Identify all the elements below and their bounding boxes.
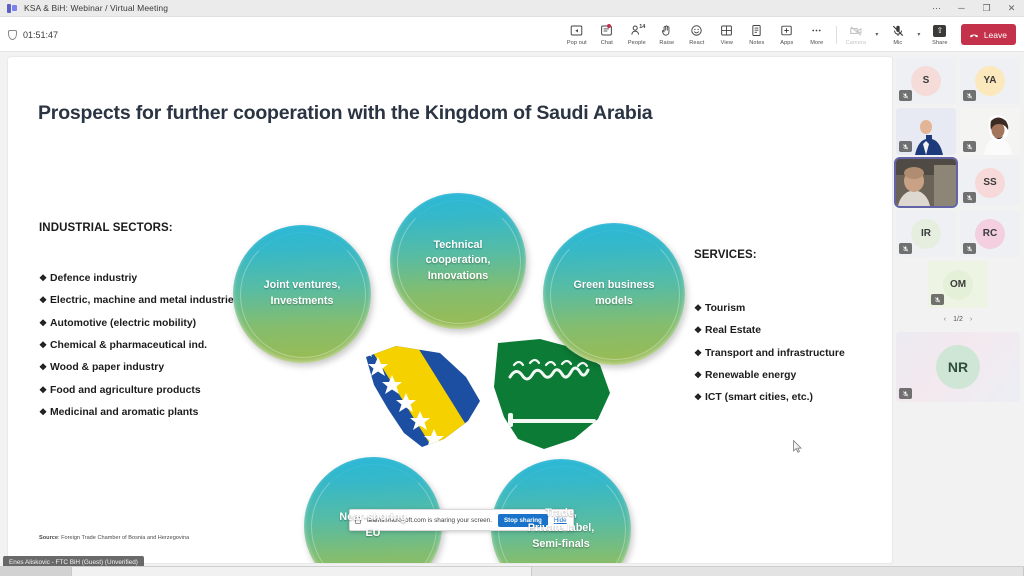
pop-out-icon: [569, 23, 584, 38]
source-label: Source: [39, 535, 58, 541]
mic-toggle-button[interactable]: Mic: [883, 18, 913, 51]
bullet-marker-icon: ❖: [694, 391, 705, 403]
mic-muted-icon: [890, 23, 905, 38]
mic-muted-icon: [963, 243, 976, 254]
mic-muted-icon: [899, 141, 912, 152]
participant-tile-s[interactable]: S: [896, 57, 956, 104]
bullet-marker-icon: ❖: [39, 361, 50, 373]
apps-plus-icon: [779, 23, 794, 38]
people-icon: 14: [629, 23, 644, 38]
bullet-marker-icon: ❖: [39, 272, 50, 284]
teams-icon: [7, 4, 17, 13]
meeting-toolbar: 01:51:47 Pop out Chat 14: [0, 17, 1024, 52]
mic-muted-icon: [931, 294, 944, 305]
avatar: YA: [975, 66, 1005, 96]
bullet-marker-icon: ❖: [694, 302, 705, 314]
apps-button[interactable]: Apps: [772, 18, 802, 51]
window-title-bar: KSA & BiH: Webinar / Virtual Meeting ⋯ ─…: [0, 0, 1024, 17]
bullet-marker-icon: ❖: [694, 369, 705, 381]
list-item-label: ICT (smart cities, etc.): [705, 391, 892, 404]
avatar: RC: [975, 219, 1005, 249]
next-page-icon[interactable]: ›: [970, 316, 972, 323]
bubble-green-business: Green business models: [543, 223, 685, 365]
view-button[interactable]: View: [712, 18, 742, 51]
bullet-marker-icon: ❖: [39, 384, 50, 396]
more-label: More: [810, 40, 823, 46]
list-item-label: Medicinal and aromatic plants: [50, 406, 289, 419]
bubble-label: Trade, Private label, Semi-finals: [520, 506, 603, 553]
mic-muted-icon: [899, 243, 912, 254]
camera-toggle-button[interactable]: Camera: [841, 18, 871, 51]
bubble-joint-ventures: Joint ventures, Investments: [233, 225, 371, 363]
notes-button[interactable]: Notes: [742, 18, 772, 51]
shield-icon: [8, 30, 17, 40]
list-item-label: Tourism: [705, 302, 892, 315]
list-item: ❖Food and agriculture products: [39, 384, 289, 397]
chat-label: Chat: [601, 40, 613, 46]
share-screen-icon: ⇧: [932, 23, 947, 38]
meeting-timer: 01:51:47: [8, 17, 58, 52]
page-indicator: 1/2: [953, 316, 963, 323]
toolbar-actions: Pop out Chat 14 People: [562, 17, 1016, 52]
list-item: ❖Renewable energy: [694, 369, 892, 382]
participant-tile-om[interactable]: OM: [928, 261, 988, 308]
list-item: ❖Medicinal and aromatic plants: [39, 406, 289, 419]
avatar: SS: [975, 168, 1005, 198]
bullet-marker-icon: ❖: [39, 317, 50, 329]
leave-button[interactable]: Leave: [961, 24, 1016, 45]
leave-label: Leave: [984, 30, 1007, 40]
window-controls: ⋯ ─ ❐ ✕: [924, 0, 1024, 17]
mic-chevron-down-icon[interactable]: ▾: [913, 18, 925, 51]
chat-button[interactable]: Chat: [592, 18, 622, 51]
notes-icon: [749, 23, 764, 38]
list-item-label: Renewable energy: [705, 369, 892, 382]
popout-button[interactable]: Pop out: [562, 18, 592, 51]
window-more-options[interactable]: ⋯: [924, 0, 949, 17]
bubble-label: Technical cooperation, Innovations: [418, 238, 499, 285]
bullet-marker-icon: ❖: [39, 294, 50, 306]
react-label: React: [689, 40, 704, 46]
more-button[interactable]: More: [802, 18, 832, 51]
slide-title: Prospects for further cooperation with t…: [38, 102, 652, 125]
participant-tile-video-1[interactable]: [896, 108, 956, 155]
bubble-label: Near-shoring EU: [331, 510, 414, 541]
services-heading: SERVICES:: [694, 249, 757, 261]
industrial-sectors-heading: INDUSTRIAL SECTORS:: [39, 222, 173, 234]
camera-off-icon: [848, 23, 863, 38]
mouse-cursor-icon: [793, 440, 802, 453]
mic-muted-icon: [963, 192, 976, 203]
video-thumbnail: [896, 159, 956, 206]
services-list: ❖Tourism ❖Real Estate ❖Transport and inf…: [694, 302, 892, 414]
camera-label: Camera: [846, 40, 867, 46]
people-label: People: [628, 40, 646, 46]
window-restore[interactable]: ❐: [974, 0, 999, 17]
meeting-duration: 01:51:47: [23, 30, 58, 40]
more-ellipsis-icon: [809, 23, 824, 38]
react-button[interactable]: React: [682, 18, 712, 51]
people-count-badge: 14: [639, 24, 645, 30]
participant-tile-ya[interactable]: YA: [960, 57, 1020, 104]
list-item: ❖Tourism: [694, 302, 892, 315]
presentation-slide: Prospects for further cooperation with t…: [8, 57, 892, 563]
window-minimize[interactable]: ─: [949, 0, 974, 17]
source-text: Foreign Trade Chamber of Bosnia and Herz…: [61, 535, 189, 541]
hang-up-icon: [968, 29, 980, 41]
slide-source: Source: Foreign Trade Chamber of Bosnia …: [39, 535, 189, 541]
participant-tile-video-2[interactable]: [960, 108, 1020, 155]
avatar: OM: [943, 270, 973, 300]
prev-page-icon[interactable]: ‹: [944, 316, 946, 323]
window-close[interactable]: ✕: [999, 0, 1024, 17]
avatar: NR: [936, 345, 980, 389]
mic-label: Mic: [893, 40, 902, 46]
people-button[interactable]: 14 People: [622, 18, 652, 51]
bubble-label: Joint ventures, Investments: [256, 278, 349, 309]
roster-pagination: ‹ 1/2 ›: [896, 311, 1020, 327]
bubble-label: Green business models: [565, 278, 662, 309]
bullet-marker-icon: ❖: [39, 406, 50, 418]
bullet-marker-icon: ❖: [39, 339, 50, 351]
mic-muted-icon: [963, 90, 976, 101]
view-label: View: [721, 40, 733, 46]
avatar: IR: [911, 219, 941, 249]
popout-label: Pop out: [567, 40, 587, 46]
react-emoji-icon: [689, 23, 704, 38]
participant-roster: S YA: [896, 57, 1020, 563]
participant-tile-ir[interactable]: IR: [896, 210, 956, 257]
share-button[interactable]: ⇧ Share: [925, 18, 955, 51]
window-title: KSA & BiH: Webinar / Virtual Meeting: [24, 3, 168, 13]
participant-tile-ss[interactable]: SS: [960, 159, 1020, 206]
list-item-label: Food and agriculture products: [50, 384, 289, 397]
participant-grid: S YA: [896, 57, 1020, 308]
list-item-label: Wood & paper industry: [50, 361, 289, 374]
list-item-label: Transport and infrastructure: [705, 347, 892, 360]
list-item-label: Real Estate: [705, 324, 892, 337]
apps-label: Apps: [780, 40, 793, 46]
participant-tile-rc[interactable]: RC: [960, 210, 1020, 257]
list-item: ❖Wood & paper industry: [39, 361, 289, 374]
shared-content-stage[interactable]: Prospects for further cooperation with t…: [8, 57, 892, 563]
share-label: Share: [932, 40, 947, 46]
participant-tile-video-active-speaker[interactable]: [896, 159, 956, 206]
raise-label: Raise: [659, 40, 674, 46]
list-item: ❖Real Estate: [694, 324, 892, 337]
participant-tile-nr[interactable]: NR: [896, 332, 1020, 402]
bullet-marker-icon: ❖: [694, 324, 705, 336]
mic-muted-icon: [963, 141, 976, 152]
bubble-technical-cooperation: Technical cooperation, Innovations: [390, 193, 526, 329]
teams-meeting-window: KSA & BiH: Webinar / Virtual Meeting ⋯ ─…: [0, 0, 1024, 576]
raise-hand-icon: [659, 23, 674, 38]
avatar: S: [911, 66, 941, 96]
list-item: ❖Transport and infrastructure: [694, 347, 892, 360]
mic-muted-icon: [899, 90, 912, 101]
os-taskbar: [0, 566, 1024, 576]
mic-muted-icon: [899, 388, 912, 399]
chat-icon: [599, 23, 614, 38]
bullet-marker-icon: ❖: [694, 347, 705, 359]
raise-hand-button[interactable]: Raise: [652, 18, 682, 51]
toolbar-divider: [836, 26, 837, 44]
notes-label: Notes: [749, 40, 764, 46]
list-item: ❖ICT (smart cities, etc.): [694, 391, 892, 404]
camera-chevron-down-icon[interactable]: ▾: [871, 18, 883, 51]
view-grid-icon: [719, 23, 734, 38]
